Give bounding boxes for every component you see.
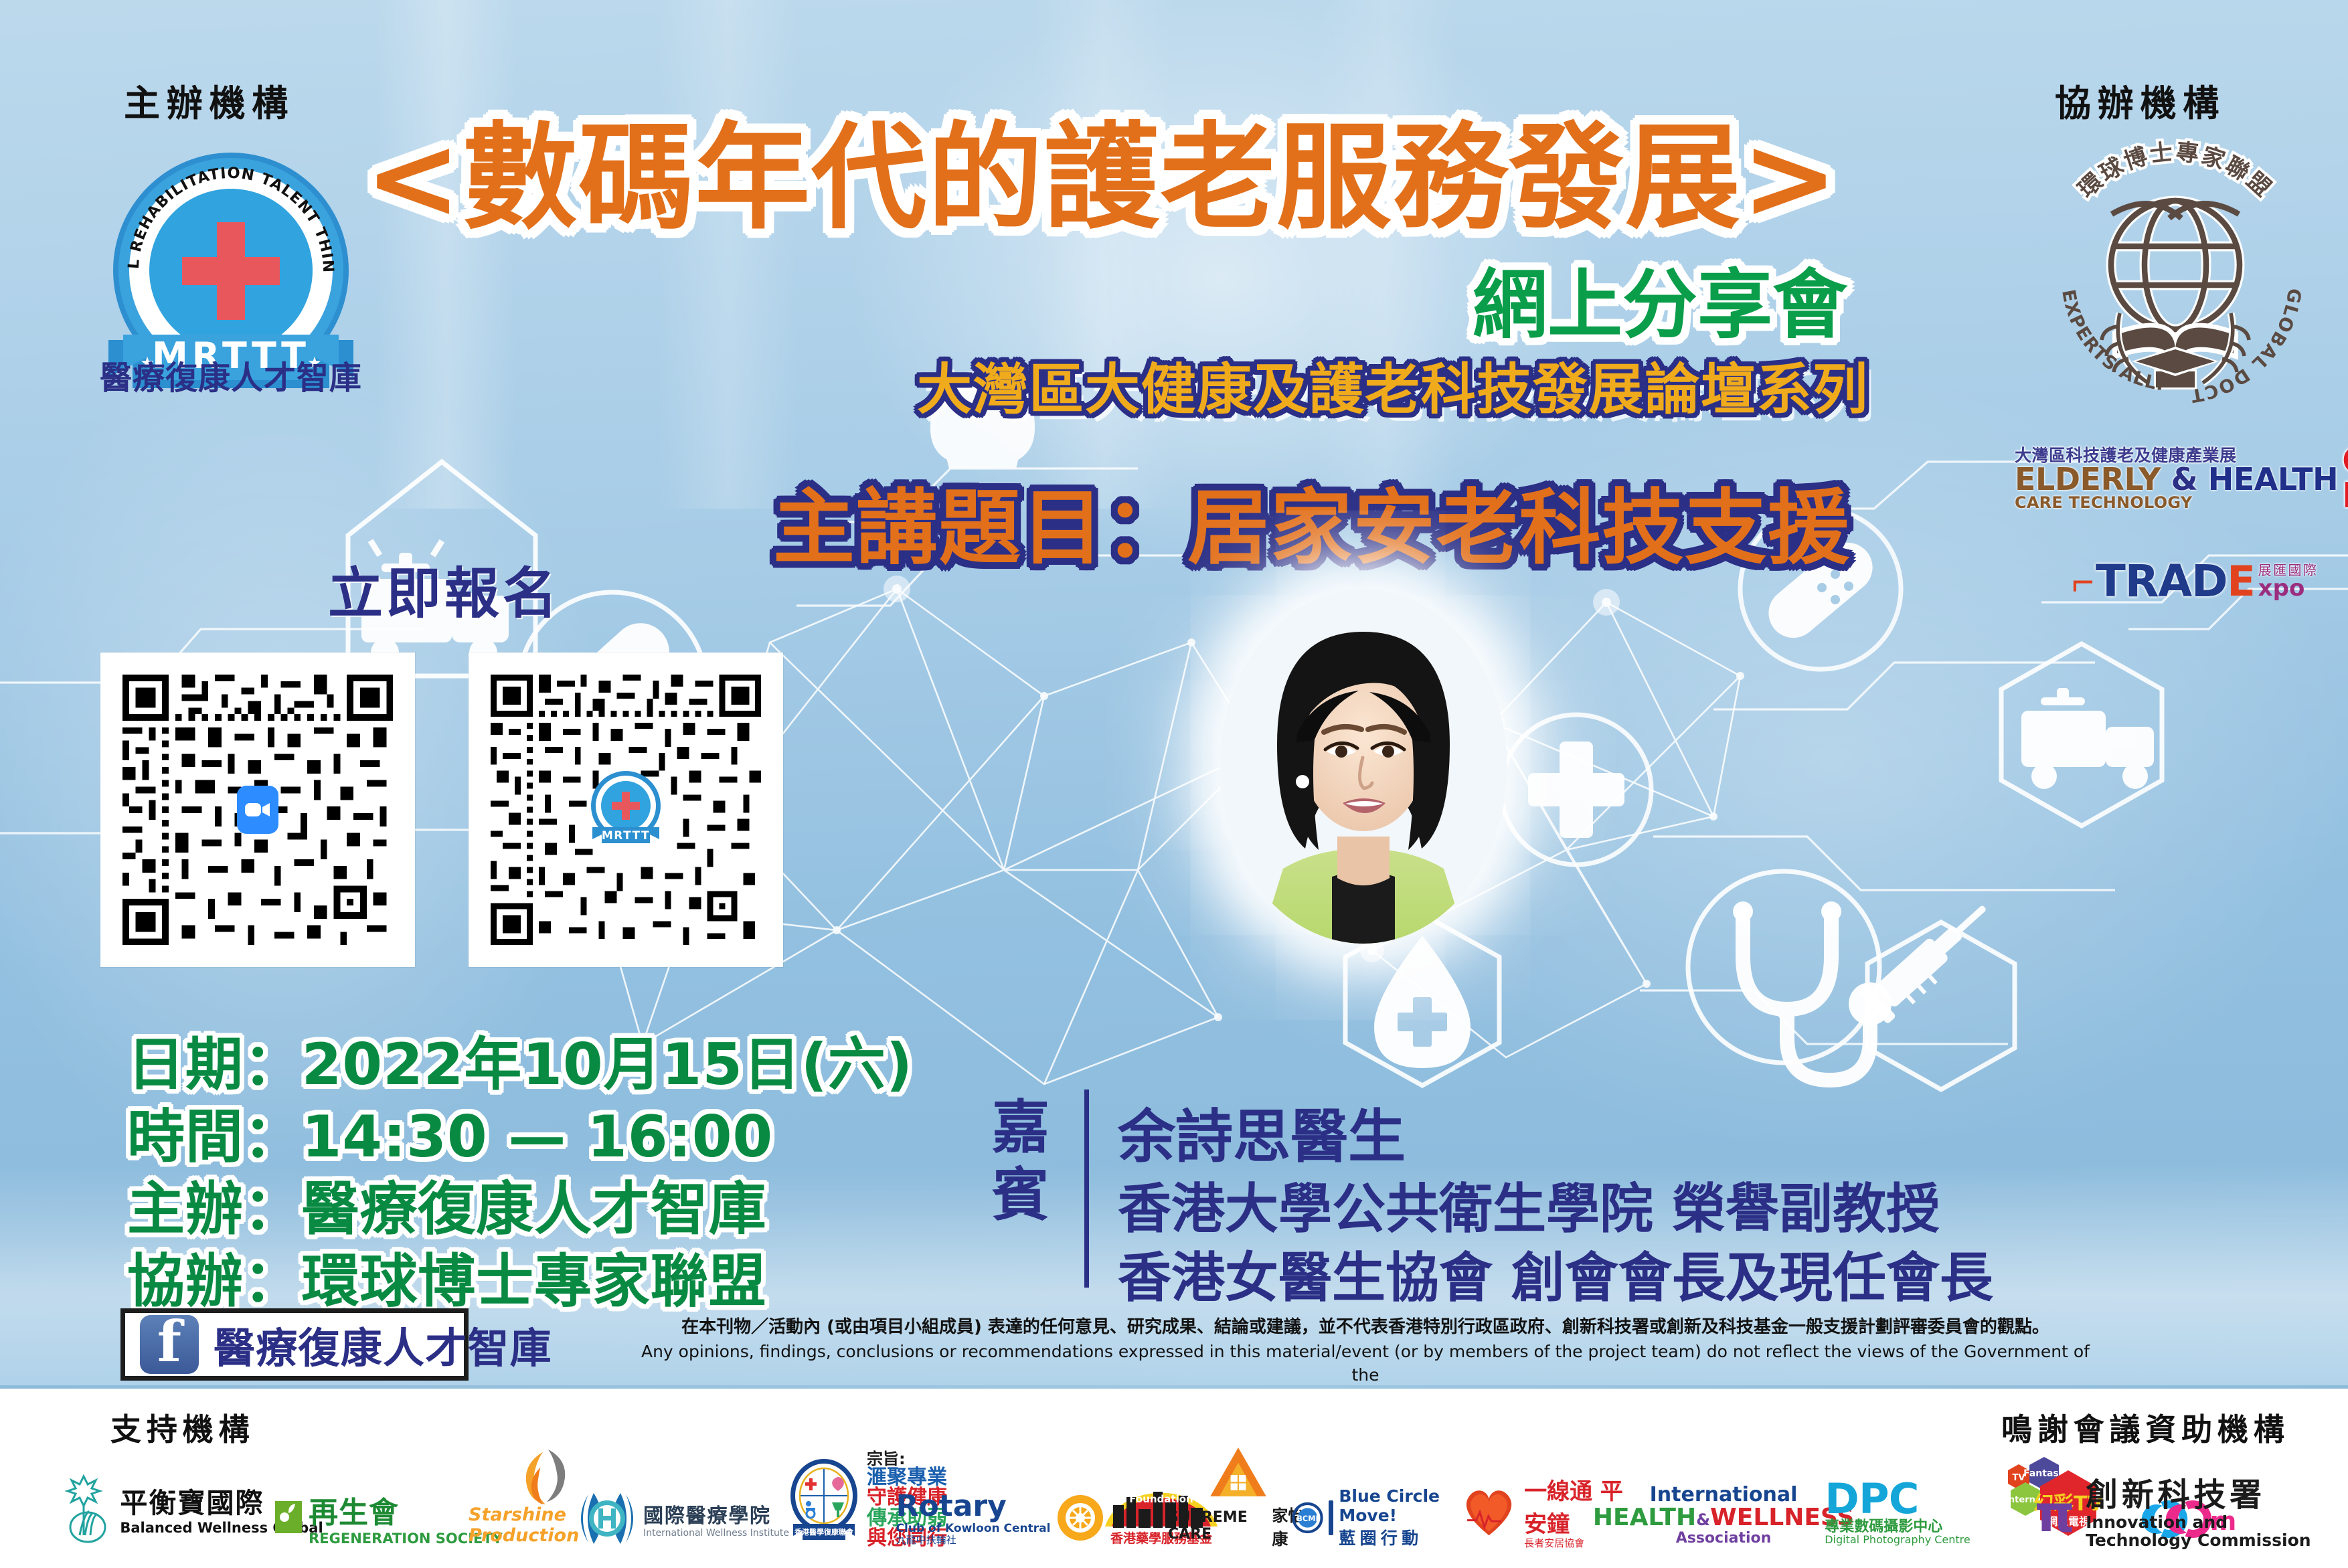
event-cohost-line: 協辦：環球博士專家聯盟 bbox=[127, 1234, 766, 1318]
svg-text:BCMI: BCMI bbox=[1296, 1514, 1318, 1523]
qr-code-zoom-registration[interactable] bbox=[100, 652, 415, 967]
bcm-zh: 藍圈行動 bbox=[1339, 1525, 1422, 1549]
trade-text: TRAD bbox=[2096, 555, 2227, 607]
svg-text:環球博士專家聯盟: 環球博士專家聯盟 bbox=[2073, 139, 2277, 203]
trade-expo-logo: ⌐ TRAD E 展匯國際 xpo bbox=[2072, 555, 2318, 607]
poster-subtitle: 網上分享會 bbox=[1473, 244, 1847, 353]
disclaimer-en-line-1: Any opinions, findings, conclusions or r… bbox=[629, 1340, 2102, 1387]
gba-expo-text: Expo bbox=[2342, 478, 2348, 513]
ihw-line-2: HEALTH&WELLNESS bbox=[1593, 1505, 1854, 1531]
event-date-line: 日期：2022年10月15日(六) bbox=[127, 1017, 913, 1101]
stethoscope-icon bbox=[1688, 871, 1892, 1080]
funder-logo-itc: π 創新科技署 Innovation and Technology Commis… bbox=[2035, 1466, 2316, 1549]
supporter-logo-international-institute: 國際醫療學院 International Wellness Institute bbox=[589, 1469, 776, 1549]
coorganizer-heading: 協辦機構 bbox=[2055, 74, 2226, 126]
svg-text:香港醫學復康聯會: 香港醫學復康聯會 bbox=[794, 1527, 854, 1537]
speaker-name: 余詩思醫生 bbox=[1118, 1090, 1406, 1173]
speaker-title-line-2: 香港女醫生協會 創會會長及現任會長 bbox=[1118, 1235, 1993, 1312]
guest-label: 嘉 賓 bbox=[987, 1094, 1054, 1230]
facebook-icon bbox=[140, 1315, 199, 1374]
supreme-care-mark bbox=[1199, 1446, 1278, 1502]
funders-heading: 鳴謝會議資助機構 bbox=[2001, 1405, 2290, 1450]
iwi-mark bbox=[576, 1488, 638, 1549]
gba-acronym-text: GBA bbox=[2342, 444, 2348, 478]
bcm-en: Blue Circle Move! bbox=[1339, 1486, 1473, 1525]
gba-health-text: HEALTH bbox=[2208, 461, 2338, 497]
gda-ring-zh: 環球博士專家聯盟 bbox=[2073, 139, 2277, 203]
bcmi-bar bbox=[1329, 1500, 1333, 1535]
rotary-wordmark: Rotary bbox=[896, 1489, 1007, 1523]
itc-name-en: Innovation and Technology Commission bbox=[2086, 1513, 2316, 1549]
supporter-logo-balanced-wellness: 平衡寶國際 Balanced Wellness Global bbox=[94, 1458, 295, 1545]
itc-pi-symbol: π bbox=[2035, 1488, 2075, 1539]
guest-divider-rule bbox=[1084, 1090, 1089, 1288]
supporter-logo-health-wellness: International HEALTH&WELLNESS Associatio… bbox=[1626, 1462, 1821, 1546]
schsa-en: 長者安居協會 bbox=[1524, 1539, 1584, 1549]
bcmi-mark: BCMI bbox=[1292, 1498, 1323, 1537]
hkmra-mark: 香港醫學復康聯會 bbox=[786, 1457, 861, 1544]
regeneration-mark bbox=[274, 1500, 303, 1535]
poster-main-title: <數碼年代的護老服務發展> bbox=[365, 84, 1839, 251]
dpc-acronym: DPC bbox=[1825, 1478, 1919, 1520]
hkmra-motto-title: 宗旨: bbox=[867, 1451, 906, 1467]
svg-text:MRTTT: MRTTT bbox=[602, 829, 650, 843]
facebook-page-name: 醫療復康人才智庫 bbox=[214, 1314, 552, 1375]
gba-expo-logo: 大灣區科技護老及健康產業展 ELDERLY & HEALTH CARE TECH… bbox=[2015, 428, 2348, 529]
event-time-line: 時間：14:30 — 16:00 bbox=[127, 1090, 773, 1173]
guest-label-char-1: 嘉 bbox=[992, 1094, 1050, 1161]
mrttt-small-logo: MRTTT bbox=[586, 770, 666, 850]
balanced-wellness-mark bbox=[65, 1471, 114, 1545]
gba-care-technology-text: CARE TECHNOLOGY bbox=[2015, 495, 2192, 511]
itc-name-zh: 創新科技署 bbox=[2086, 1478, 2266, 1513]
poster-root: 主辦機構 MEDICAL REHABILITATION TALENT THINK… bbox=[0, 0, 2348, 1568]
qr-right-center-logo: MRTTT bbox=[586, 770, 666, 850]
supporter-logo-dpc: DPC 專業數碼攝影中心 Digital Photography Centre bbox=[1821, 1459, 1975, 1546]
global-doctors-alliance-logo: 環球博士專家聯盟 環球博士專家聯盟 GLOBAL DOCTORS EXPERTS… bbox=[2031, 134, 2319, 422]
supporter-logo-supreme-care: SUPREME CARE 家怡康 bbox=[1168, 1446, 1309, 1549]
organizer-caption: 醫療復康人才智庫 bbox=[94, 351, 368, 398]
qr-left-center-logo bbox=[237, 786, 278, 834]
event-host-line: 主辦：醫療復康人才智庫 bbox=[127, 1162, 766, 1245]
heart-pulse-mark bbox=[1459, 1475, 1519, 1547]
speaker-title-line-1: 香港大學公共衛生學院 榮譽副教授 bbox=[1118, 1166, 1940, 1243]
speaker-portrait bbox=[1220, 589, 1507, 944]
registration-label: 立即報名 bbox=[328, 549, 561, 628]
ihw-line-1: International bbox=[1650, 1484, 1798, 1506]
ambulance-hex-icon bbox=[2001, 644, 2162, 826]
dpc-en: Digital Photography Centre bbox=[1825, 1535, 1970, 1546]
gba-amp-text: & bbox=[2171, 461, 2198, 497]
poster-series-title: 大灣區大健康及護老科技發展論壇系列 bbox=[917, 345, 1869, 424]
supporter-name-balanced-wellness: 平衡寶國際 bbox=[120, 1480, 264, 1520]
trade-xpo-text: xpo bbox=[2258, 577, 2319, 600]
ihw-line-3: Association bbox=[1676, 1531, 1772, 1546]
zoom-icon bbox=[243, 798, 272, 821]
rotary-club-name-zh: 九龍中扶輪社 bbox=[896, 1535, 956, 1546]
qr-code-mrttt-registration[interactable]: MRTTT bbox=[469, 652, 783, 967]
starshine-mark bbox=[513, 1446, 578, 1507]
medical-cross-icon bbox=[1501, 715, 1651, 865]
organizer-heading: 主辦機構 bbox=[124, 74, 295, 126]
speaker-photo bbox=[1220, 589, 1507, 944]
supporter-logo-blue-circle-move: BCMI Blue Circle Move! 藍圈行動 bbox=[1292, 1469, 1473, 1549]
supporter-name-international-institute: 國際醫療學院 bbox=[643, 1499, 771, 1529]
supporter-name-regeneration: 再生會 bbox=[309, 1488, 399, 1531]
supporter-logo-rotary: Rotary Club of Kowloon Central 九龍中扶輪社 bbox=[910, 1466, 1091, 1546]
gba-elderly-text: ELDERLY bbox=[2015, 461, 2161, 497]
supporter-logo-regeneration-society: 再生會 REGENERATION SOCIETY bbox=[305, 1472, 472, 1546]
guest-label-char-2: 賓 bbox=[992, 1162, 1050, 1229]
facebook-page-button[interactable]: 醫療復康人才智庫 bbox=[120, 1308, 469, 1381]
dpc-zh: 專業數碼攝影中心 bbox=[1825, 1520, 1942, 1535]
disclaimer-zh: 在本刊物／活動內 (或由項目小組成員) 表達的任何意見、研究成果、結論或建議，並… bbox=[629, 1315, 2102, 1340]
poster-topic-title: 主講題目：居家安老科技支援 bbox=[773, 462, 1851, 580]
supporters-heading: 支持機構 bbox=[110, 1405, 254, 1450]
trade-e-letter: E bbox=[2227, 557, 2255, 606]
supreme-care-en: SUPREME CARE bbox=[1168, 1509, 1265, 1543]
